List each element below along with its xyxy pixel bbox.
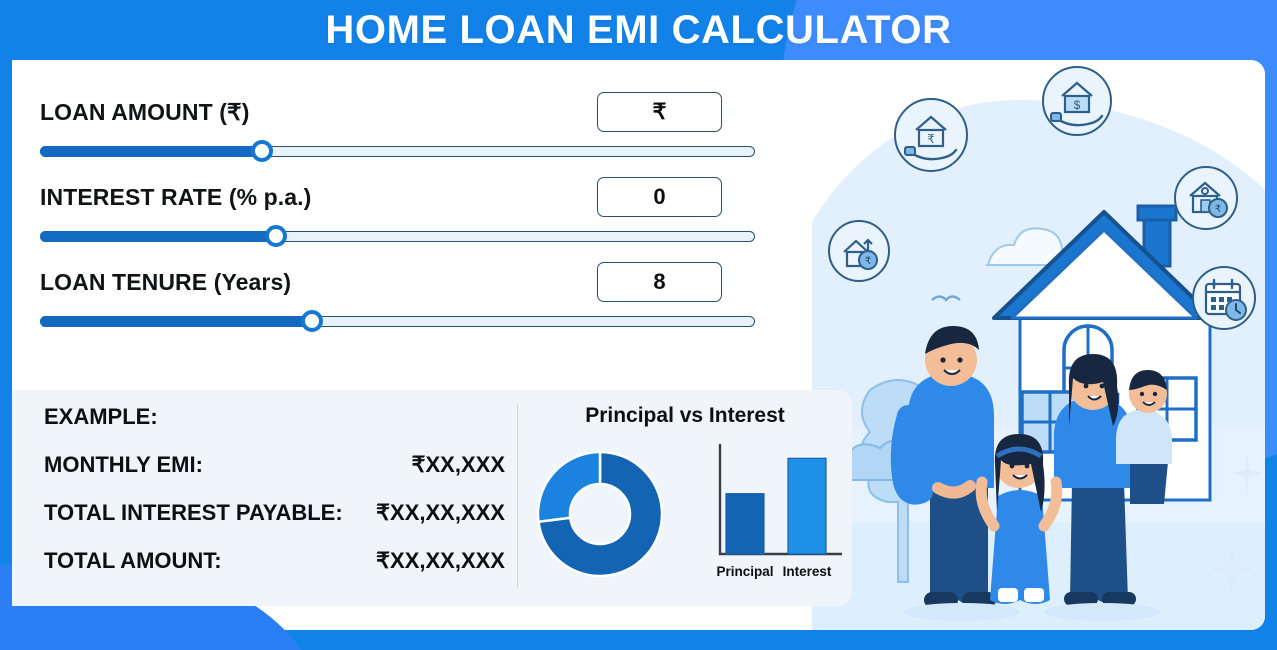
slider-fill <box>40 146 262 157</box>
total-amount-value: ₹XX,XX,XXX <box>376 548 517 574</box>
page-title: HOME LOAN EMI CALCULATOR <box>325 8 951 53</box>
field-row: LOAN AMOUNT (₹) ₹ <box>40 88 772 136</box>
illustration-artwork <box>812 60 1265 630</box>
page-header: HOME LOAN EMI CALCULATOR <box>0 0 1277 60</box>
loan-inputs-panel: LOAN AMOUNT (₹) ₹ INTEREST RATE (% p.a.)… <box>12 60 812 390</box>
donut-slice-interest <box>538 452 600 522</box>
field-row: LOAN TENURE (Years) 8 <box>40 258 772 306</box>
interest-rate-label: INTEREST RATE (% p.a.) <box>40 184 311 211</box>
field-interest-rate: INTEREST RATE (% p.a.) 0 <box>40 173 772 247</box>
loan-amount-input[interactable]: ₹ <box>597 92 722 132</box>
monthly-emi-label: MONTHLY EMI: <box>44 452 203 478</box>
results-panel: EXAMPLE: MONTHLY EMI: ₹XX,XXX TOTAL INTE… <box>12 390 852 606</box>
house-in-hand-rupee-icon: ₹ <box>894 98 968 172</box>
house-in-hand-dollar-icon: $ <box>1042 66 1112 136</box>
bar-label-interest: Interest <box>783 564 832 579</box>
result-row-monthly-emi: MONTHLY EMI: ₹XX,XXX <box>44 452 517 500</box>
principal-interest-bar-chart: PrincipalInterest <box>696 436 844 586</box>
loan-tenure-input[interactable]: 8 <box>597 262 722 302</box>
chart-title: Principal vs Interest <box>585 404 785 428</box>
bar-interest <box>788 458 826 554</box>
shadow <box>904 603 1020 621</box>
svg-text:₹: ₹ <box>865 256 871 267</box>
principal-interest-donut-chart <box>526 438 674 586</box>
result-row-total-amount: TOTAL AMOUNT: ₹XX,XX,XXX <box>44 548 517 596</box>
total-interest-value: ₹XX,XX,XXX <box>376 500 517 526</box>
calendar-clock-icon <box>1192 266 1256 330</box>
emi-calculator-page: HOME LOAN EMI CALCULATOR <box>0 0 1277 650</box>
loan-tenure-label: LOAN TENURE (Years) <box>40 269 291 296</box>
house-person-rupee-icon: ₹ <box>1174 166 1238 230</box>
slider-thumb[interactable] <box>251 140 273 162</box>
slider-fill <box>40 231 276 242</box>
charts-panel: Principal vs Interest PrincipalInterest <box>518 390 852 606</box>
bar-label-principal: Principal <box>716 564 773 579</box>
svg-text:₹: ₹ <box>927 132 935 146</box>
results-heading: EXAMPLE: <box>44 404 158 430</box>
result-row-total-interest: TOTAL INTEREST PAYABLE: ₹XX,XX,XXX <box>44 500 517 548</box>
slider-thumb[interactable] <box>265 225 287 247</box>
loan-tenure-slider[interactable] <box>40 310 755 332</box>
total-amount-label: TOTAL AMOUNT: <box>44 548 222 574</box>
father-figure <box>902 326 996 608</box>
slider-thumb[interactable] <box>301 310 323 332</box>
svg-text:₹: ₹ <box>1215 204 1221 215</box>
svg-text:$: $ <box>1074 98 1081 112</box>
field-row: INTEREST RATE (% p.a.) 0 <box>40 173 772 221</box>
interest-rate-slider[interactable] <box>40 225 755 247</box>
results-list: EXAMPLE: MONTHLY EMI: ₹XX,XXX TOTAL INTE… <box>12 390 517 606</box>
house-growth-rupee-icon: ₹ <box>828 220 890 282</box>
results-heading-row: EXAMPLE: <box>44 404 517 452</box>
slider-fill <box>40 316 312 327</box>
loan-amount-label: LOAN AMOUNT (₹) <box>40 99 249 126</box>
charts-row: PrincipalInterest <box>526 436 844 586</box>
bird-icon <box>932 297 960 301</box>
shadow <box>1044 603 1160 621</box>
loan-amount-slider[interactable] <box>40 140 755 162</box>
interest-rate-input[interactable]: 0 <box>597 177 722 217</box>
monthly-emi-value: ₹XX,XXX <box>412 452 517 478</box>
bar-principal <box>726 494 764 554</box>
field-loan-tenure: LOAN TENURE (Years) 8 <box>40 258 772 332</box>
family-house-illustration: ₹ ₹ $ <box>812 60 1265 630</box>
total-interest-label: TOTAL INTEREST PAYABLE: <box>44 500 343 526</box>
field-loan-amount: LOAN AMOUNT (₹) ₹ <box>40 88 772 162</box>
